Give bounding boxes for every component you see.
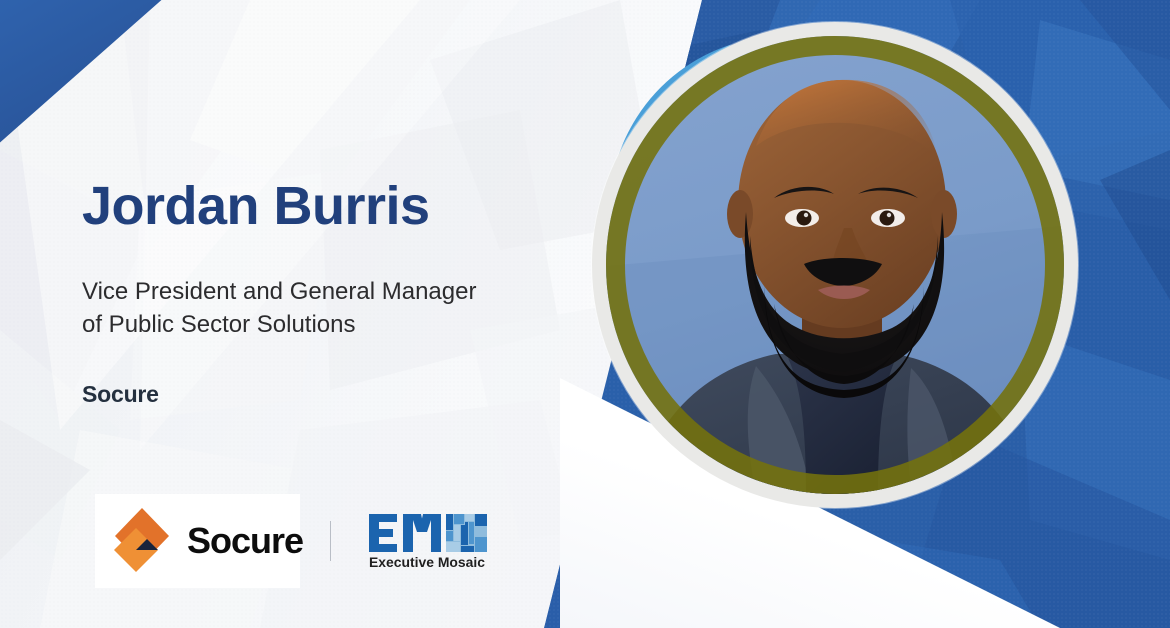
logo-divider [330,521,331,561]
socure-wordmark: Socure [187,523,303,559]
speaker-text-block: Jordan Burris Vice President and General… [82,178,562,408]
portrait-photo [606,36,1064,494]
person-job-title: Vice President and General Manager of Pu… [82,275,562,341]
portrait-frame [592,22,1078,508]
job-title-line-1: Vice President and General Manager [82,275,562,308]
socure-logo: Socure [95,494,300,588]
speaker-banner-card: Jordan Burris Vice President and General… [0,0,1170,628]
executive-mosaic-wordmark: Executive Mosaic [369,554,485,570]
socure-diamond-mark-icon [111,506,173,576]
executive-mosaic-logo: Executive Mosaic [367,512,487,570]
person-company: Socure [82,381,562,408]
page-title: Jordan Burris [82,178,562,235]
job-title-line-2: of Public Sector Solutions [82,308,562,341]
logo-strip: Socure [95,494,487,588]
